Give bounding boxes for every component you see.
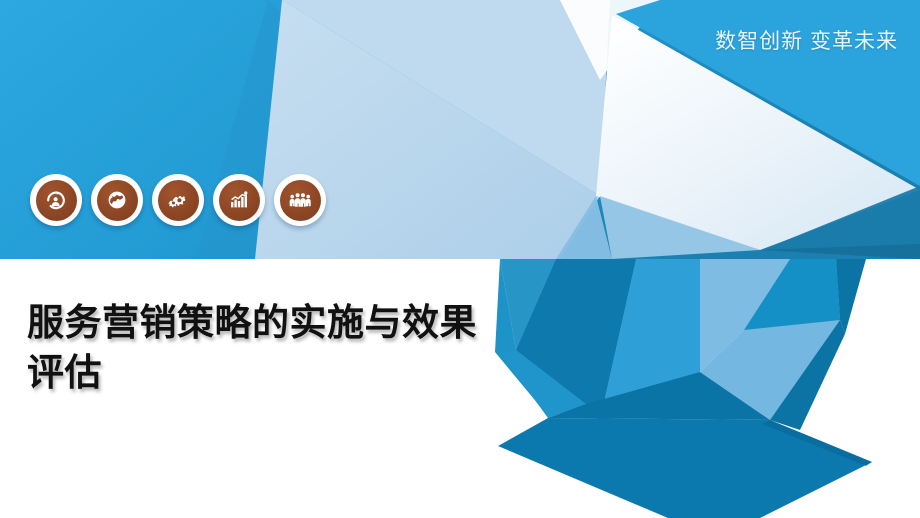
icon-disc bbox=[36, 180, 77, 221]
icon-disc bbox=[280, 180, 321, 221]
slide-canvas: 数智创新 变革未来 bbox=[0, 0, 920, 518]
gears-icon bbox=[166, 188, 190, 212]
people-group-icon bbox=[288, 188, 312, 212]
globe-icon bbox=[105, 188, 129, 212]
bar-chart-icon bbox=[227, 188, 251, 212]
poly-bottom-band bbox=[498, 418, 872, 518]
icon-disc bbox=[158, 180, 199, 221]
tagline-text: 数智创新 变革未来 bbox=[715, 29, 898, 54]
growth-person-icon bbox=[44, 188, 68, 212]
icon-badge-people-group[interactable] bbox=[274, 174, 326, 226]
page-title-line-1: 服务营销策略的实施与效果 bbox=[27, 298, 567, 348]
icon-strip bbox=[30, 174, 326, 226]
icon-badge-growth-person[interactable] bbox=[30, 174, 82, 226]
icon-badge-globe[interactable] bbox=[91, 174, 143, 226]
page-title: 服务营销策略的实施与效果 评估 bbox=[27, 298, 567, 398]
icon-badge-gears[interactable] bbox=[152, 174, 204, 226]
icon-badge-bar-chart[interactable] bbox=[213, 174, 265, 226]
icon-disc bbox=[219, 180, 260, 221]
page-title-line-2: 评估 bbox=[27, 348, 567, 398]
icon-disc bbox=[97, 180, 138, 221]
background-artwork bbox=[0, 0, 920, 518]
